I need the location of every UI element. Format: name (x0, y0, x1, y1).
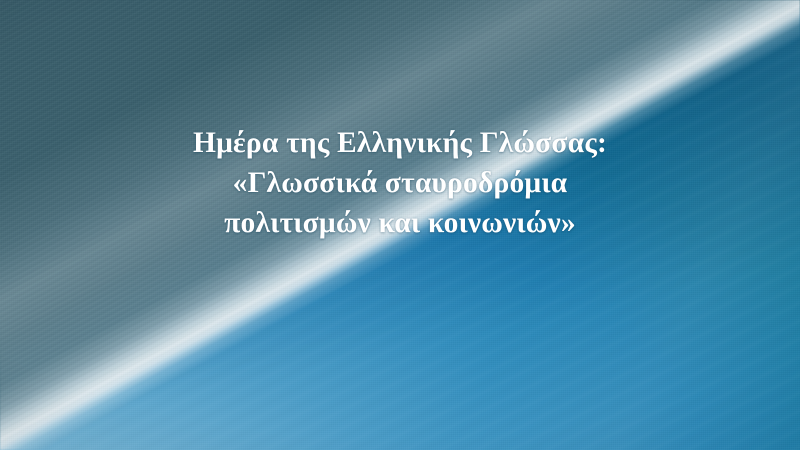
slide-title-line-1: Ημέρα της Ελληνικής Γλώσσας: (0, 123, 800, 163)
slide-title-line-3: πολιτισμών και κοινωνιών» (0, 203, 800, 243)
slide-title: Ημέρα της Ελληνικής Γλώσσας: «Γλωσσικά σ… (0, 123, 800, 243)
slide-title-line-2: «Γλωσσικά σταυροδρόμια (0, 163, 800, 203)
presentation-slide: Ημέρα της Ελληνικής Γλώσσας: «Γλωσσικά σ… (0, 0, 800, 450)
